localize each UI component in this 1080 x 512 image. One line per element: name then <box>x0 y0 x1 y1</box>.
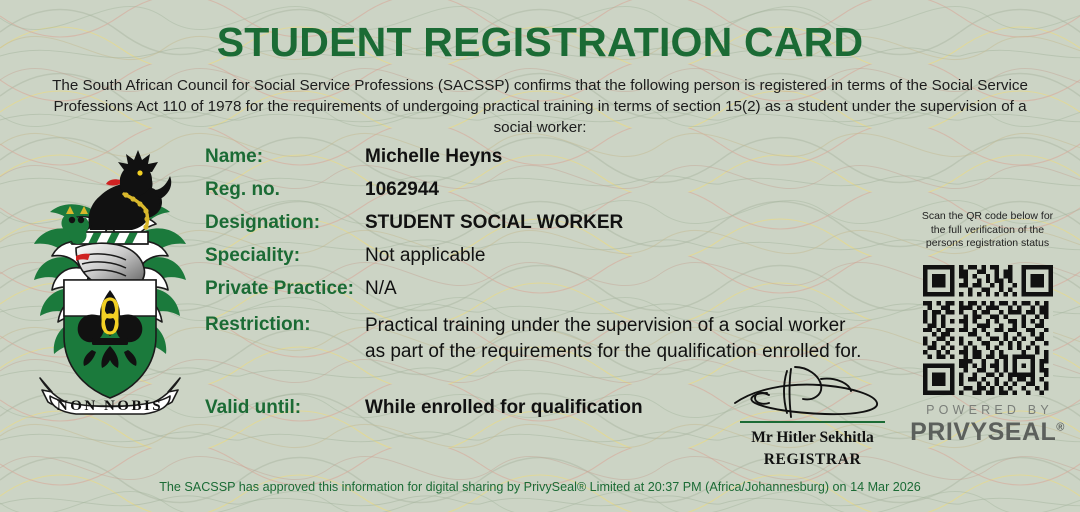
field-label-name: Name: <box>205 145 365 169</box>
page-title: STUDENT REGISTRATION CARD <box>0 0 1080 65</box>
field-row-restriction: Restriction: Practical training under th… <box>205 313 895 365</box>
qr-caption-line-1: Scan the QR code below for <box>900 210 1075 224</box>
qr-caption-line-3: persons registration status <box>900 237 1075 251</box>
field-label-private-practice: Private Practice: <box>205 277 365 301</box>
registrar-name: Mr Hitler Sekhitla <box>725 429 900 447</box>
field-row-reg-no: Reg. no. 1062944 <box>205 178 895 202</box>
field-label-reg-no: Reg. no. <box>205 178 365 202</box>
field-value-restriction: Practical training under the supervision… <box>365 313 861 365</box>
crest-motto-text: NON NOBIS <box>57 398 163 414</box>
intro-paragraph: The South African Council for Social Ser… <box>35 75 1045 138</box>
registrar-role: REGISTRAR <box>725 451 900 469</box>
field-label-designation: Designation: <box>205 211 365 235</box>
field-row-speciality: Speciality: Not applicable <box>205 244 895 268</box>
crest-shield <box>64 280 156 398</box>
field-value-valid-until: While enrolled for qualification <box>365 396 643 420</box>
field-row-private-practice: Private Practice: N/A <box>205 277 895 301</box>
field-row-designation: Designation: STUDENT SOCIAL WORKER <box>205 211 895 235</box>
student-registration-card: STUDENT REGISTRATION CARD The South Afri… <box>0 0 1080 512</box>
field-row-name: Name: Michelle Heyns <box>205 145 895 169</box>
privyseal-wordmark: PRIVYSEAL <box>910 418 1056 446</box>
privyseal-brand: PRIVYSEAL® <box>900 418 1075 447</box>
powered-by-label: POWERED BY <box>904 403 1075 417</box>
field-value-private-practice: N/A <box>365 277 397 301</box>
approval-footer: The SACSSP has approved this information… <box>0 480 1080 494</box>
field-label-speciality: Speciality: <box>205 244 365 268</box>
field-value-name: Michelle Heyns <box>365 145 502 169</box>
qr-verification-panel: Scan the QR code below for the full veri… <box>900 210 1075 447</box>
qr-code[interactable] <box>923 265 1053 395</box>
registered-trademark-icon: ® <box>1056 421 1065 433</box>
field-label-restriction: Restriction: <box>205 313 365 337</box>
qr-caption-line-2: the full verification of the <box>900 224 1075 238</box>
field-value-reg-no: 1062944 <box>365 178 439 202</box>
restriction-line-2: as part of the requirements for the qual… <box>365 339 861 365</box>
qr-caption: Scan the QR code below for the full veri… <box>900 210 1075 251</box>
field-label-valid-until: Valid until: <box>205 396 365 420</box>
sacssp-coat-of-arms: NON NOBIS <box>20 140 200 415</box>
field-value-designation: STUDENT SOCIAL WORKER <box>365 211 623 235</box>
signature-rule <box>740 421 885 423</box>
registrar-signature-icon <box>725 365 900 420</box>
signature-block: Mr Hitler Sekhitla REGISTRAR <box>725 365 900 469</box>
restriction-line-1: Practical training under the supervision… <box>365 313 861 339</box>
field-value-speciality: Not applicable <box>365 244 485 268</box>
